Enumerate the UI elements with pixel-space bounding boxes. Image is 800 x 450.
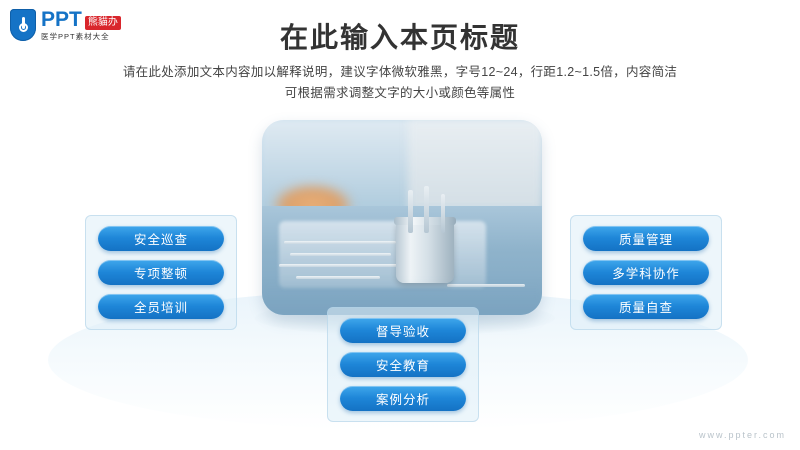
left-button-group: 安全巡查 专项整顿 全员培训 [85,215,237,330]
left-button-1[interactable]: 安全巡查 [98,226,224,251]
bottom-button-3[interactable]: 案例分析 [340,386,466,411]
subtitle-line-1: 请在此处添加文本内容加以解释说明，建议字体微软雅黑，字号12~24，行距1.2~… [0,62,800,83]
photo-instrument [296,276,380,279]
photo-scissors [424,186,429,233]
page-subtitle: 请在此处添加文本内容加以解释说明，建议字体微软雅黑，字号12~24，行距1.2~… [0,62,800,104]
watermark: www.ppter.com [699,430,786,440]
left-button-2[interactable]: 专项整顿 [98,260,224,285]
photo-instrument [279,264,402,267]
right-button-2[interactable]: 多学科协作 [583,260,709,285]
bottom-button-1[interactable]: 督导验收 [340,318,466,343]
right-button-3[interactable]: 质量自查 [583,294,709,319]
left-button-3[interactable]: 全员培训 [98,294,224,319]
photo-scissors [441,194,445,233]
bottom-button-2[interactable]: 安全教育 [340,352,466,377]
right-button-1[interactable]: 质量管理 [583,226,709,251]
subtitle-line-2: 可根据需求调整文字的大小或颜色等属性 [0,83,800,104]
photo-instrument [284,241,396,244]
photo-instrument [290,253,391,256]
page-title: 在此输入本页标题 [0,16,800,56]
photo-scissors [408,190,413,233]
surgical-instruments-tray-photo [262,120,542,315]
bottom-button-group: 督导验收 安全教育 案例分析 [327,307,479,422]
right-button-group: 质量管理 多学科协作 质量自查 [570,215,722,330]
